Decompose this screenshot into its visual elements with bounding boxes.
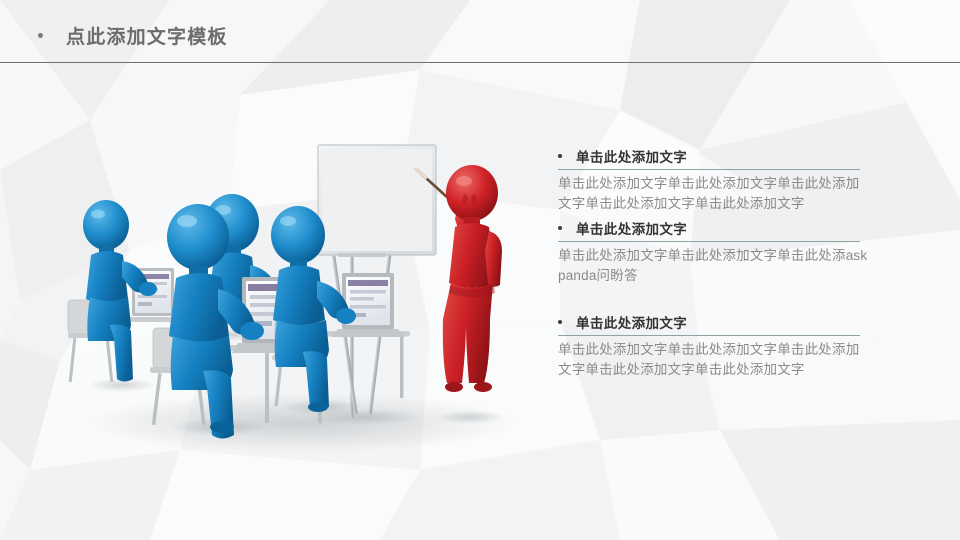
bullet-dot-icon bbox=[558, 226, 562, 230]
content-block-1-heading-text: 单击此处添加文字 bbox=[576, 146, 687, 166]
content-block-1-heading[interactable]: 单击此处添加文字 bbox=[558, 146, 868, 169]
classroom-illustration-svg bbox=[60, 135, 540, 455]
slide-header: 点此添加文字模板 bbox=[0, 0, 960, 63]
slide-canvas: 点此添加文字模板 bbox=[0, 0, 960, 540]
content-block-3: 单击此处添加文字 单击此处添加文字单击此处添加文字单击此处添加文字单击此处添加文… bbox=[558, 312, 868, 380]
page-title[interactable]: 点此添加文字模板 bbox=[38, 22, 228, 49]
content-block-1-body[interactable]: 单击此处添加文字单击此处添加文字单击此处添加文字单击此处添加文字单击此处添加文字 bbox=[558, 174, 868, 214]
bullet-dot-icon bbox=[558, 154, 562, 158]
content-block-3-divider bbox=[558, 335, 860, 336]
header-divider bbox=[0, 62, 960, 63]
content-block-3-body[interactable]: 单击此处添加文字单击此处添加文字单击此处添加文字单击此处添加文字单击此处添加文字 bbox=[558, 340, 868, 380]
content-block-3-heading-text: 单击此处添加文字 bbox=[576, 312, 687, 332]
classroom-illustration bbox=[60, 135, 540, 455]
bullet-dot-icon bbox=[38, 33, 43, 38]
content-block-2-heading[interactable]: 单击此处添加文字 bbox=[558, 218, 868, 241]
content-column: 单击此处添加文字 单击此处添加文字单击此处添加文字单击此处添加文字单击此处添加文… bbox=[558, 146, 868, 384]
content-block-3-heading[interactable]: 单击此处添加文字 bbox=[558, 312, 868, 335]
content-block-1-divider bbox=[558, 169, 860, 170]
page-title-text: 点此添加文字模板 bbox=[66, 22, 228, 49]
content-block-2: 单击此处添加文字 单击此处添加文字单击此处添加文字单击此处添askpanda问盼… bbox=[558, 218, 868, 286]
content-block-1: 单击此处添加文字 单击此处添加文字单击此处添加文字单击此处添加文字单击此处添加文… bbox=[558, 146, 868, 214]
content-block-2-heading-text: 单击此处添加文字 bbox=[576, 218, 687, 238]
content-block-2-divider bbox=[558, 241, 860, 242]
bullet-dot-icon bbox=[558, 320, 562, 324]
content-block-2-body[interactable]: 单击此处添加文字单击此处添加文字单击此处添askpanda问盼答 bbox=[558, 246, 868, 286]
